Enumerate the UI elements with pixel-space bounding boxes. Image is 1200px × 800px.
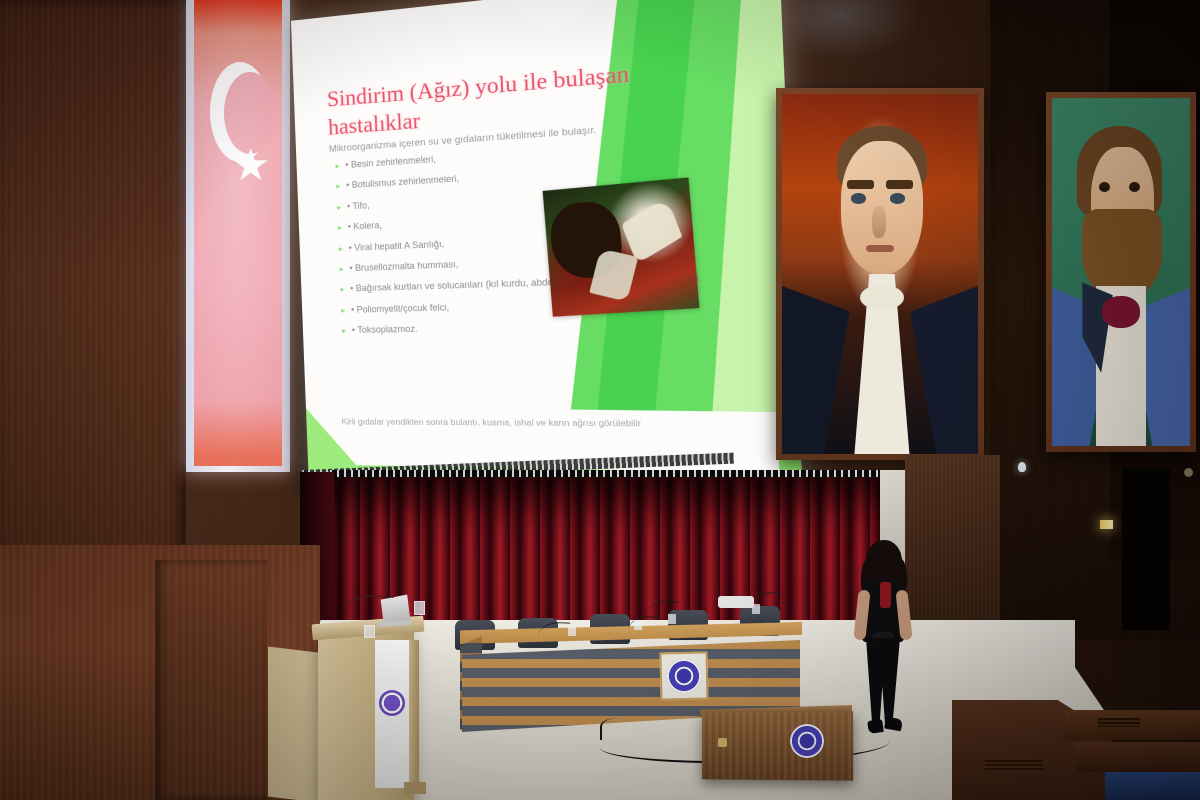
wall-knob-icon: [1184, 468, 1193, 477]
legs: [866, 638, 900, 724]
list-item-label: • Tifo,: [347, 201, 370, 212]
lectern-seal-icon: [379, 690, 405, 716]
floor-cable-2: [600, 718, 644, 740]
portrait-ataturk: [776, 88, 984, 460]
water-glass-icon: [634, 620, 642, 630]
nose: [872, 206, 886, 238]
water-glass-icon: [568, 626, 576, 636]
laptop-on-table: [718, 596, 754, 608]
bullet-marker-icon: ▸: [338, 223, 342, 233]
flag-backlight-glow: [186, 0, 290, 472]
floor-box-seal-icon: [790, 724, 824, 758]
bullet-marker-icon: ▸: [339, 244, 343, 254]
floor-vent-icon-2: [1098, 718, 1140, 727]
bullet-marker-icon: ▸: [337, 202, 341, 212]
slide-footer-text: Kirli gıdalar yendikten sonra bulantı, k…: [341, 416, 723, 429]
bullet-marker-icon: ▸: [336, 182, 340, 192]
shoe-right: [884, 717, 903, 732]
bullet-marker-icon: ▸: [341, 306, 345, 316]
list-item-label: • Besin zehirlenmeleri,: [345, 155, 436, 171]
bullet-marker-icon: ▸: [342, 326, 346, 336]
list-item-label: • Botulismus zehirlenmeleri,: [346, 175, 459, 192]
eyebrow-right: [886, 180, 913, 189]
floor-vent-icon: [985, 760, 1043, 770]
bullet-marker-icon: ▸: [339, 264, 343, 274]
institution-seal: [660, 652, 709, 701]
auditorium-scene: Sindirim (Ağız) yolu ile bulaşan hastalı…: [0, 0, 1200, 800]
list-item: ▸ • Toksoplazmoz.: [342, 318, 736, 336]
slide-photo: [543, 177, 700, 316]
shoe-left: [867, 719, 884, 734]
list-item-label: • Toksoplazmoz.: [352, 325, 418, 336]
hair: [866, 540, 902, 584]
list-item-label: • Viral hepatit A Sarılığı,: [348, 239, 444, 253]
eye-left: [851, 193, 867, 204]
mouth: [866, 245, 893, 252]
water-glass-icon: [414, 601, 425, 615]
seal-emblem-icon: [667, 659, 702, 694]
water-glass-icon: [668, 614, 676, 624]
wall-lamp-icon-2: [1018, 462, 1026, 472]
ceiling-light-glow: [760, 0, 920, 60]
presenter: [852, 540, 914, 740]
red-scarf-accent: [880, 582, 891, 608]
portrait-bearded-man-canvas: [1052, 98, 1190, 446]
eye-right: [890, 193, 906, 204]
stage-step-2: [1075, 742, 1200, 772]
photo-container-icon: [621, 197, 682, 264]
aisle-carpet: [1105, 772, 1200, 800]
bullet-marker-icon: ▸: [340, 285, 344, 295]
dark-door-panel: [1122, 468, 1170, 630]
lock-icon: [718, 738, 727, 747]
eye-left: [1099, 182, 1110, 192]
indicator-light-icon: [1100, 520, 1113, 529]
bullet-marker-icon: ▸: [335, 161, 339, 171]
lectern-foot: [404, 782, 426, 794]
portrait-bearded-man: [1046, 92, 1196, 452]
eyebrow-left: [847, 180, 874, 189]
list-item-label: • Brusellozmalta humması,: [349, 260, 458, 274]
list-item-label: • Poliomyelit/çocuk felci,: [351, 303, 449, 316]
bow-tie-icon: [1102, 296, 1141, 327]
presentation-slide: Sindirim (Ağız) yolu ile bulaşan hastalı…: [291, 0, 803, 501]
projection-screen: Sindirim (Ağız) yolu ile bulaşan hastalı…: [300, 20, 748, 490]
lectern-post: [409, 640, 419, 792]
wall-pillar: [905, 455, 1000, 645]
left-lower-wall-2: [155, 560, 267, 800]
portrait-ataturk-canvas: [782, 94, 978, 454]
bow-tie-icon: [860, 285, 903, 310]
list-item-label: • Kolera,: [348, 221, 383, 233]
